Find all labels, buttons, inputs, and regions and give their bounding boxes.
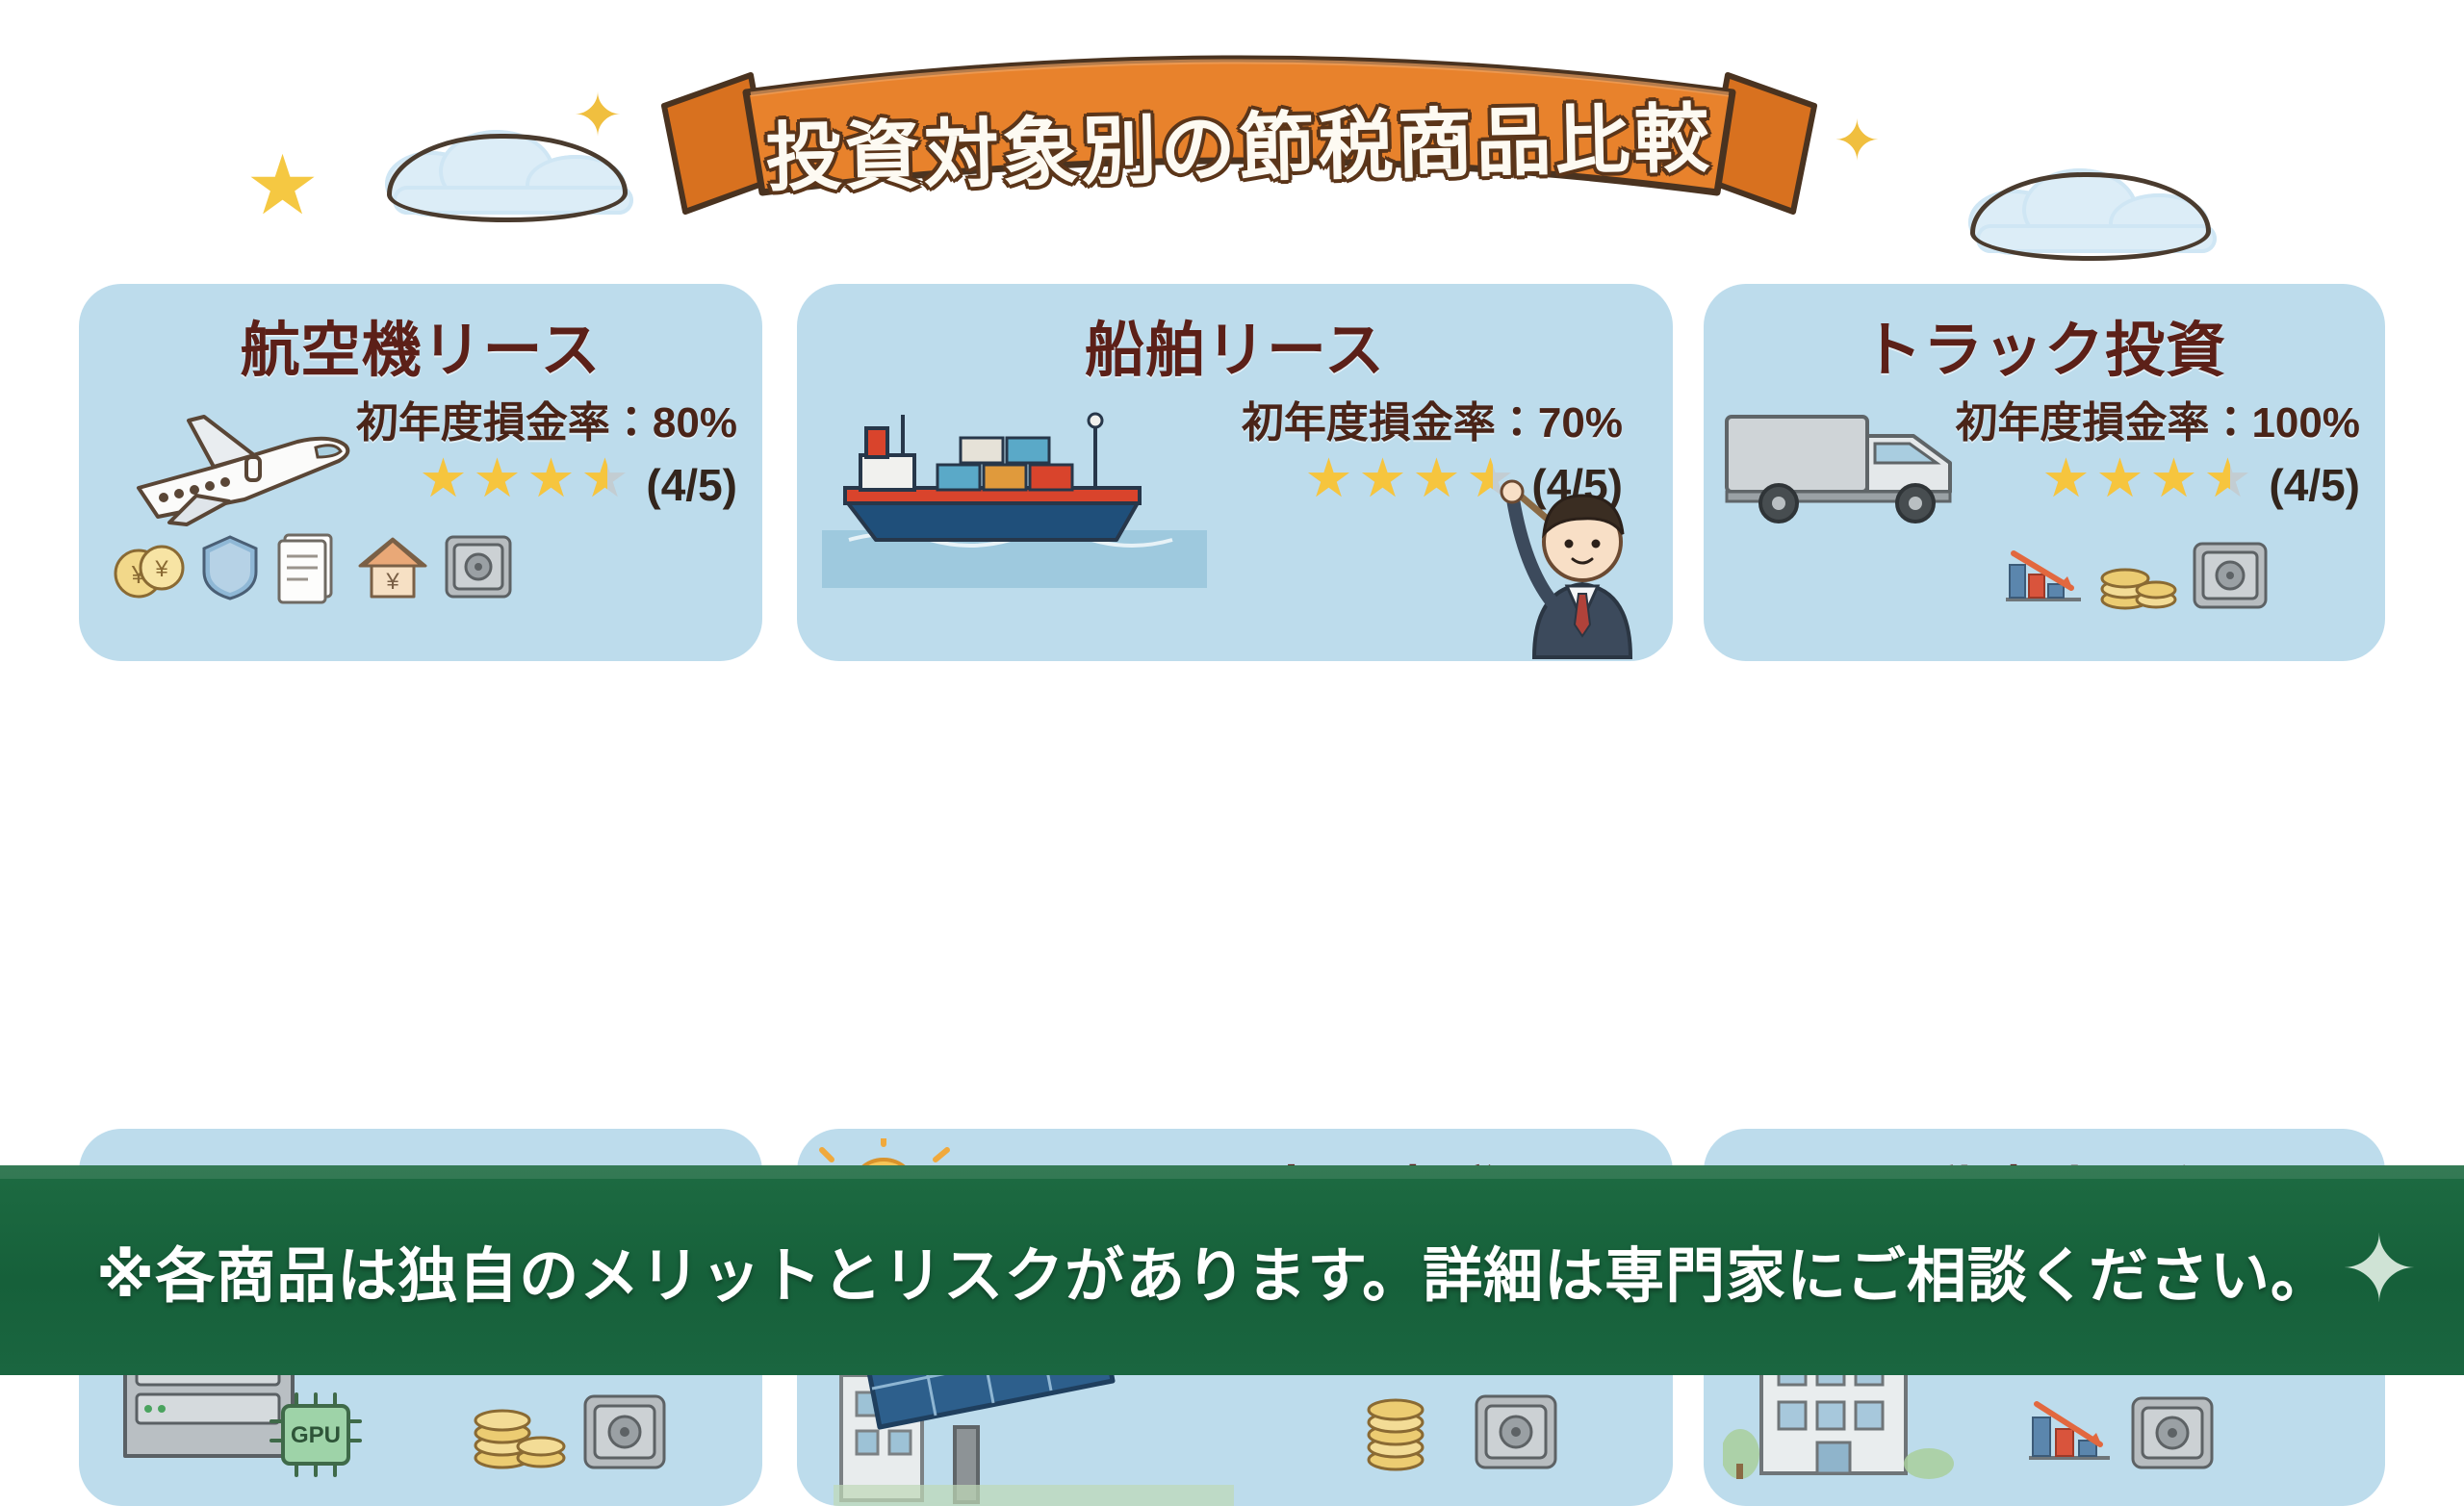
comparison-card-grid: 航空機リース 初年度損金率：80% ★★ ★★ ★★ ★★ (4/5)	[0, 284, 2464, 1131]
presenter-person-icon	[1490, 467, 1673, 661]
footer-note-text: ※各商品は独自のメリットとリスクがあります。詳細は専門家にご相談ください。	[0, 1227, 2368, 1314]
star-icon: ★★	[2095, 460, 2145, 510]
house-yen-icon: ¥	[354, 529, 431, 604]
star-icon: ★★	[580, 460, 630, 510]
card-title: 船舶リース	[797, 301, 1673, 388]
yen-coin-icon: ¥ ¥	[112, 529, 187, 604]
coin-stack-icon	[2096, 536, 2179, 615]
star-count-label: (4/5)	[646, 459, 737, 511]
card-info: 初年度損金率：80% ★★ ★★ ★★ ★★ (4/5)	[356, 388, 737, 511]
svg-text:GPU: GPU	[291, 1422, 341, 1448]
star-icon: ★★	[1358, 460, 1408, 510]
safe-icon	[2189, 536, 2271, 615]
footer-sparkle-icon: ✦	[2341, 1224, 2418, 1316]
card-mini-icons	[470, 1387, 672, 1475]
star-icon: ★★	[1304, 460, 1354, 510]
star-icon: ★★	[1412, 460, 1462, 510]
card-truck-investment[interactable]: トラック投資 初年度損金率：100% ★★ ★★ ★★ ★★ (4/5)	[1704, 284, 2385, 661]
star-icon: ★★	[2149, 460, 2199, 510]
card-ship-lease[interactable]: 船舶リース 初年度損金率：70% ★★	[797, 284, 1673, 661]
safe-icon	[579, 1387, 672, 1475]
decorative-star-icon: ★	[245, 144, 320, 227]
star-icon: ★★	[419, 460, 469, 510]
safe-icon	[441, 529, 516, 604]
coin-stack-icon	[470, 1387, 570, 1475]
star-icon: ★★	[2203, 460, 2253, 510]
star-rating: ★★ ★★ ★★ ★★ (4/5)	[356, 459, 737, 511]
card-mini-icons: ¥ ¥ ¥	[112, 529, 516, 604]
card-mini-icons	[1361, 1385, 1563, 1475]
card-mini-icons	[2021, 1389, 2220, 1475]
title-ribbon: 投資対象別の節税商品比較	[654, 37, 1824, 229]
star-icon: ★★	[526, 460, 577, 510]
svg-text:¥: ¥	[154, 556, 168, 582]
decorative-sparkle-right-icon: ✦	[1834, 114, 1881, 169]
card-row-1: 航空機リース 初年度損金率：80% ★★ ★★ ★★ ★★ (4/5)	[0, 284, 2464, 707]
gpu-chip-icon: GPU	[264, 1387, 370, 1483]
loss-rate-label: 初年度損金率：70%	[1242, 388, 1623, 449]
star-icon: ★★	[473, 460, 523, 510]
loss-rate-label: 初年度損金率：80%	[356, 388, 737, 449]
loss-rate-label: 初年度損金率：100%	[1955, 388, 2360, 449]
document-icon	[273, 529, 345, 604]
footer-note-banner: ※各商品は独自のメリットとリスクがあります。詳細は専門家にご相談ください。 ✦	[0, 1165, 2464, 1375]
truck-illustration	[1723, 403, 1983, 528]
card-mini-icons	[2000, 536, 2271, 615]
shield-icon	[196, 529, 264, 604]
declining-bar-chart-icon	[2021, 1389, 2117, 1475]
svg-text:¥: ¥	[385, 569, 399, 595]
card-aircraft-lease[interactable]: 航空機リース 初年度損金率：80% ★★ ★★ ★★ ★★ (4/5)	[79, 284, 762, 661]
star-rating: ★★ ★★ ★★ ★★ (4/5)	[1955, 459, 2360, 511]
airplane-illustration	[100, 399, 379, 534]
card-info: 初年度損金率：100% ★★ ★★ ★★ ★★ (4/5)	[1955, 388, 2360, 511]
card-title: 航空機リース	[79, 301, 762, 388]
safe-icon	[1471, 1385, 1563, 1475]
card-row-2: GPUサーバー GPU	[0, 707, 2464, 1131]
declining-bar-chart-icon	[2000, 536, 2087, 615]
star-count-label: (4/5)	[2269, 459, 2360, 511]
safe-icon	[2127, 1389, 2220, 1475]
card-title: トラック投資	[1704, 301, 2385, 388]
decorative-sparkle-left-icon: ✦	[573, 87, 623, 146]
star-icon: ★★	[2041, 460, 2092, 510]
coin-stack-icon	[1361, 1385, 1461, 1475]
cargo-ship-illustration	[822, 396, 1207, 588]
